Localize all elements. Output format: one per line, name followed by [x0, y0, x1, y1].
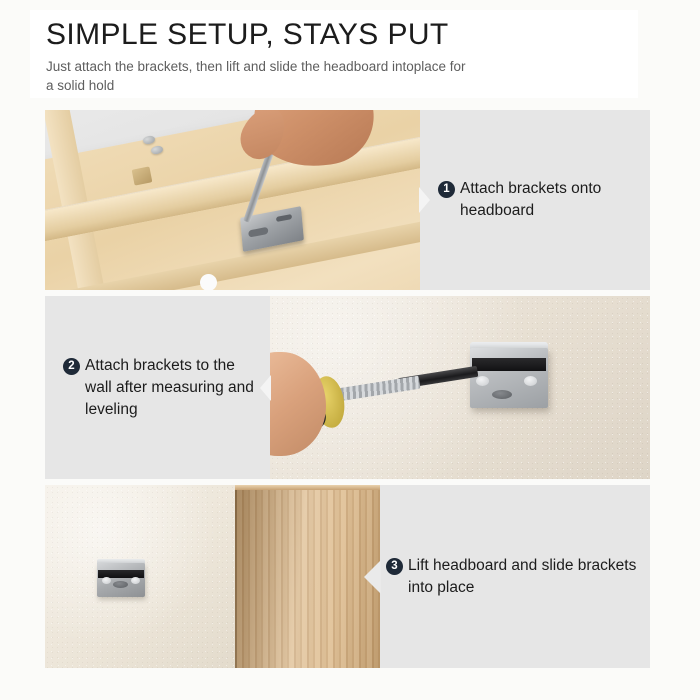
caption-pointer-icon: [260, 375, 271, 401]
step-row-1: 1 Attach brackets onto headboard: [45, 110, 650, 290]
caption-arrow-icon: [364, 560, 381, 594]
bracket-slot: [113, 581, 128, 588]
page-title: SIMPLE SETUP, STAYS PUT: [46, 18, 638, 52]
step-1-photo: [45, 110, 420, 290]
step-1-text: Attach brackets onto headboard: [460, 178, 638, 222]
bracket-screw-hole: [524, 376, 537, 386]
step-3-photo-headboard: [235, 485, 380, 668]
bracket-screw-hole: [102, 577, 111, 584]
bracket-screw-hole: [476, 376, 489, 386]
step-3-photo-wall: [45, 485, 235, 668]
step-2-caption: 2 Attach brackets to the wall after meas…: [45, 296, 270, 479]
corner-hinge: [132, 166, 153, 185]
step-2-badge: 2: [63, 358, 80, 375]
bracket-dark-band: [472, 358, 546, 371]
step-3-badge: 3: [386, 558, 403, 575]
bracket-slot: [492, 390, 512, 399]
step-row-3: 3 Lift headboard and slide brackets into…: [45, 485, 650, 668]
step-1-caption: 1 Attach brackets onto headboard: [420, 110, 650, 290]
step-3-caption: 3 Lift headboard and slide brackets into…: [380, 485, 650, 668]
page-subtitle: Just attach the brackets, then lift and …: [46, 57, 476, 95]
header-card: SIMPLE SETUP, STAYS PUT Just attach the …: [30, 10, 638, 98]
step-2-text: Attach brackets to the wall after measur…: [85, 355, 258, 421]
headboard-top-edge: [235, 485, 380, 490]
step-1-badge: 1: [438, 181, 455, 198]
caption-pointer-icon: [419, 187, 430, 213]
bracket-screw-hole: [131, 577, 140, 584]
step-3-text: Lift headboard and slide brackets into p…: [408, 555, 638, 599]
step-row-2: 2 Attach brackets to the wall after meas…: [45, 296, 650, 479]
slatted-headboard: [235, 485, 380, 668]
step-2-photo: [270, 296, 650, 479]
